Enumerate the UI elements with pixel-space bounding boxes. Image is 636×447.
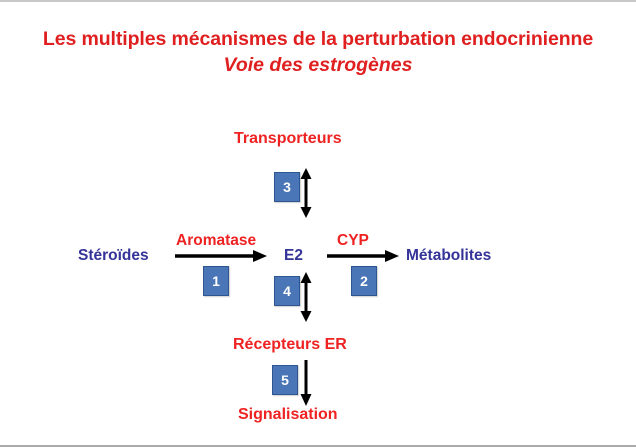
arrow-signalisation-down <box>297 360 315 406</box>
node-steroides: Stéroïdes <box>78 247 149 265</box>
step-box-2[interactable]: 2 <box>351 266 377 296</box>
node-signalisation: Signalisation <box>238 406 338 424</box>
slide-canvas: Les multiples mécanismes de la perturbat… <box>0 0 636 447</box>
step-box-1[interactable]: 1 <box>203 266 229 296</box>
arrow-aromatase-right <box>175 248 267 264</box>
node-transporteurs: Transporteurs <box>234 130 342 148</box>
enzyme-label-cyp: CYP <box>337 232 369 249</box>
arrow-recepteurs-double-vertical <box>297 272 315 322</box>
node-metabolites: Métabolites <box>406 247 491 265</box>
node-e2: E2 <box>284 247 303 265</box>
node-recepteurs-er: Récepteurs ER <box>233 336 347 354</box>
title-line-2: Voie des estrogènes <box>0 52 636 78</box>
arrow-cyp-right <box>327 248 399 264</box>
title-line-1: Les multiples mécanismes de la perturbat… <box>0 26 636 52</box>
enzyme-label-aromatase: Aromatase <box>176 232 256 249</box>
page-title: Les multiples mécanismes de la perturbat… <box>0 26 636 78</box>
arrow-transporteurs-double-vertical <box>297 168 315 218</box>
step-box-5[interactable]: 5 <box>272 365 298 395</box>
